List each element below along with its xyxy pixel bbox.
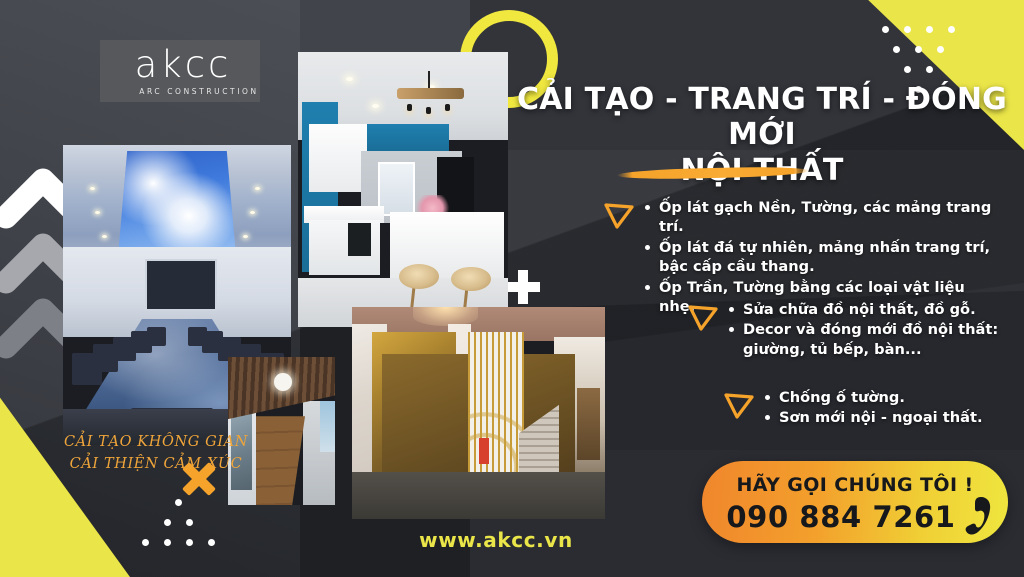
logo-wordmark: akcc — [135, 46, 232, 83]
logo-subtitle: ARC CONSTRUCTION — [139, 87, 259, 96]
list-item: Chống ố tường. — [764, 388, 983, 407]
tagline-line-1: CẢI TẠO KHÔNG GIAN — [56, 432, 256, 454]
cta-phone-number: 090 884 7261 — [702, 500, 980, 534]
service-group-3: Chống ố tường. Sơn mới nội - ngoại thất. — [724, 388, 1014, 429]
tagline-line-2: CẢI THIỆN CẢM XÚC — [56, 454, 256, 476]
dot-triangle-pattern-bottom-left — [142, 499, 252, 569]
cta-label: HÃY GỌI CHÚNG TÔI ! — [702, 474, 1008, 496]
brand-logo: akcc ARC CONSTRUCTION — [100, 40, 260, 102]
website-url[interactable]: www.akcc.vn — [380, 528, 612, 552]
list-item: Decor và đóng mới đồ nội thất: giường, t… — [728, 320, 1008, 359]
list-item: Sửa chữa đồ nội thất, đồ gỗ. — [728, 300, 1008, 319]
photo-balcony-wood-slat-ceiling — [228, 357, 335, 505]
call-us-button[interactable]: HÃY GỌI CHÚNG TÔI ! 090 884 7261 — [702, 461, 1008, 543]
photo-gold-elevator-lobby — [352, 307, 605, 519]
poster-canvas: akcc ARC CONSTRUCTION — [0, 0, 1024, 577]
phone-handset-icon — [960, 495, 994, 537]
headline-line-1: CẢI TẠO - TRANG TRÍ - ĐÓNG MỚI — [517, 82, 1007, 152]
service-list-2: Sửa chữa đồ nội thất, đồ gỗ. Decor và đó… — [728, 300, 1008, 360]
service-group-2: Sửa chữa đồ nội thất, đồ gỗ. Decor và đó… — [688, 300, 1008, 360]
triangle-down-icon — [724, 392, 754, 420]
list-item: Ốp lát gạch Nền, Tường, các mảng trang t… — [644, 198, 1004, 237]
tagline: CẢI TẠO KHÔNG GIAN CẢI THIỆN CẢM XÚC — [56, 432, 256, 476]
photo-blue-white-kitchen — [298, 52, 508, 327]
triangle-down-icon — [604, 202, 634, 230]
service-list-3: Chống ố tường. Sơn mới nội - ngoại thất. — [764, 388, 983, 429]
triangle-down-icon — [688, 304, 718, 332]
list-item: Sơn mới nội - ngoại thất. — [764, 408, 983, 427]
list-item: Ốp lát đá tự nhiên, mảng nhấn trang trí,… — [644, 238, 1004, 277]
plus-icon — [506, 270, 540, 304]
